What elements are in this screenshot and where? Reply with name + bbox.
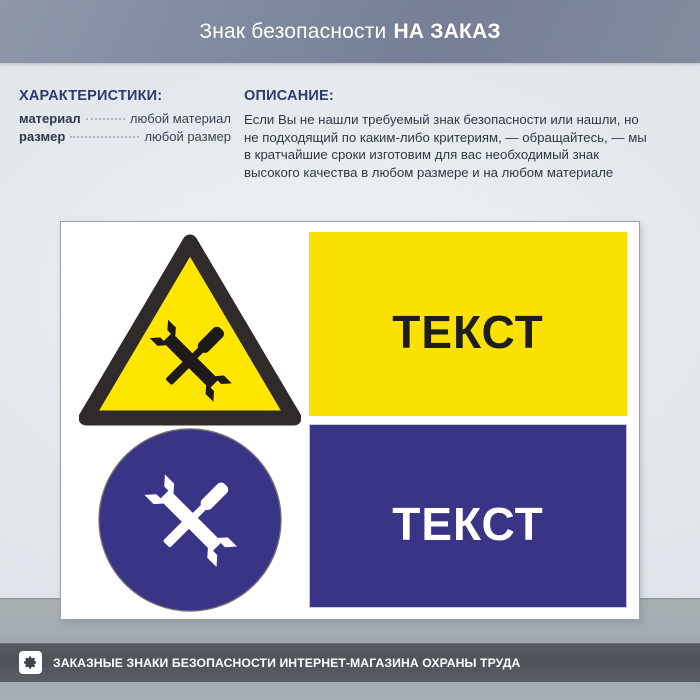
gear-icon: [19, 651, 42, 674]
spec-value-material: любой материал: [130, 111, 231, 126]
page-title-bold: НА ЗАКАЗ: [393, 20, 500, 44]
description-line: не подходящий по каким-либо критериям, —…: [244, 129, 676, 147]
spec-row-material: материал любой материал: [19, 111, 231, 126]
sign-grid: ТЕКСТ ТЕКСТ: [61, 222, 639, 619]
spec-value-size: любой размер: [144, 129, 231, 144]
spec-dot-leader: [70, 136, 139, 138]
warning-triangle-icon: [79, 230, 301, 426]
specifications-heading: ХАРАКТЕРИСТИКИ:: [19, 88, 231, 104]
blue-text-panel: ТЕКСТ: [309, 424, 627, 608]
description-line: Если Вы не нашли требуемый знак безопасн…: [244, 111, 676, 129]
yellow-panel-label: ТЕКСТ: [392, 305, 543, 359]
spec-row-size: размер любой размер: [19, 129, 231, 144]
description-line: высокого качества в любом размере и на л…: [244, 164, 676, 182]
footer-content: ЗАКАЗНЫЕ ЗНАКИ БЕЗОПАСНОСТИ ИНТЕРНЕТ-МАГ…: [0, 643, 700, 682]
blue-panel-label: ТЕКСТ: [392, 497, 543, 551]
specifications-block: ХАРАКТЕРИСТИКИ: материал любой материал …: [19, 88, 231, 147]
spec-key-size: размер: [19, 129, 65, 144]
page-title: Знак безопасности НА ЗАКАЗ: [0, 0, 700, 63]
page-title-light: Знак безопасности: [199, 20, 386, 44]
description-text: Если Вы не нашли требуемый знак безопасн…: [244, 111, 676, 181]
warning-triangle-sign: [79, 230, 301, 426]
footer-label: ЗАКАЗНЫЕ ЗНАКИ БЕЗОПАСНОСТИ ИНТЕРНЕТ-МАГ…: [53, 656, 520, 670]
description-heading: ОПИСАНИЕ:: [244, 88, 676, 104]
yellow-text-panel: ТЕКСТ: [309, 232, 627, 416]
mandatory-circle-sign: [79, 422, 301, 618]
description-line: в кратчайшие сроки изготовим для вас нео…: [244, 146, 676, 164]
spec-key-material: материал: [19, 111, 81, 126]
poster-root: Знак безопасности НА ЗАКАЗ ХАРАКТЕРИСТИК…: [0, 0, 700, 700]
description-block: ОПИСАНИЕ: Если Вы не нашли требуемый зна…: [244, 88, 676, 181]
sign-preview-card: ТЕКСТ ТЕКСТ: [60, 221, 640, 620]
spec-dot-leader: [86, 118, 125, 120]
mandatory-circle-icon: [79, 422, 301, 618]
